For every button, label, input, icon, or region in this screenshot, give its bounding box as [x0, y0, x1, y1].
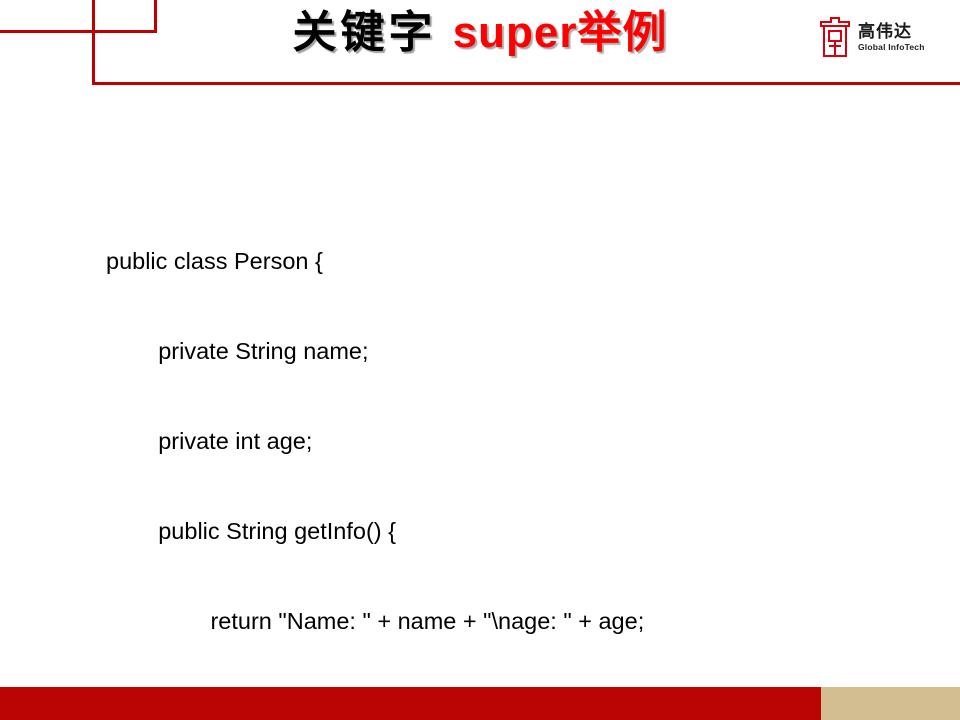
code-line: return "Name: " + name + "\nage: " + age… [106, 606, 960, 636]
footer-bar [0, 687, 960, 720]
page-title-keyword: super举例 [453, 8, 668, 57]
footer-bar-red [0, 687, 821, 720]
code-line: private int age; [106, 426, 960, 456]
footer-bar-tan [821, 687, 960, 720]
gate-glyph-icon [818, 16, 852, 58]
code-area: public class Person { private String nam… [0, 186, 960, 720]
logo-name-english: Global InfoTech [858, 43, 925, 52]
code-line: public String getInfo() { [106, 516, 960, 546]
page-title: 关键字 super举例 [0, 2, 960, 64]
code-line: private String name; [106, 336, 960, 366]
code-line: public class Person { [106, 246, 960, 276]
code-block-person: public class Person { private String nam… [0, 186, 960, 720]
logo-text-group: 高伟达 Global InfoTech [858, 23, 925, 52]
company-logo: 高伟达 Global InfoTech [818, 16, 925, 58]
page-title-chinese: 关键字 [292, 8, 452, 57]
logo-name-chinese: 高伟达 [858, 23, 925, 40]
slide: 关键字 super举例 高伟达 Global InfoTech public c… [0, 0, 960, 720]
header-divider-line [92, 82, 960, 85]
